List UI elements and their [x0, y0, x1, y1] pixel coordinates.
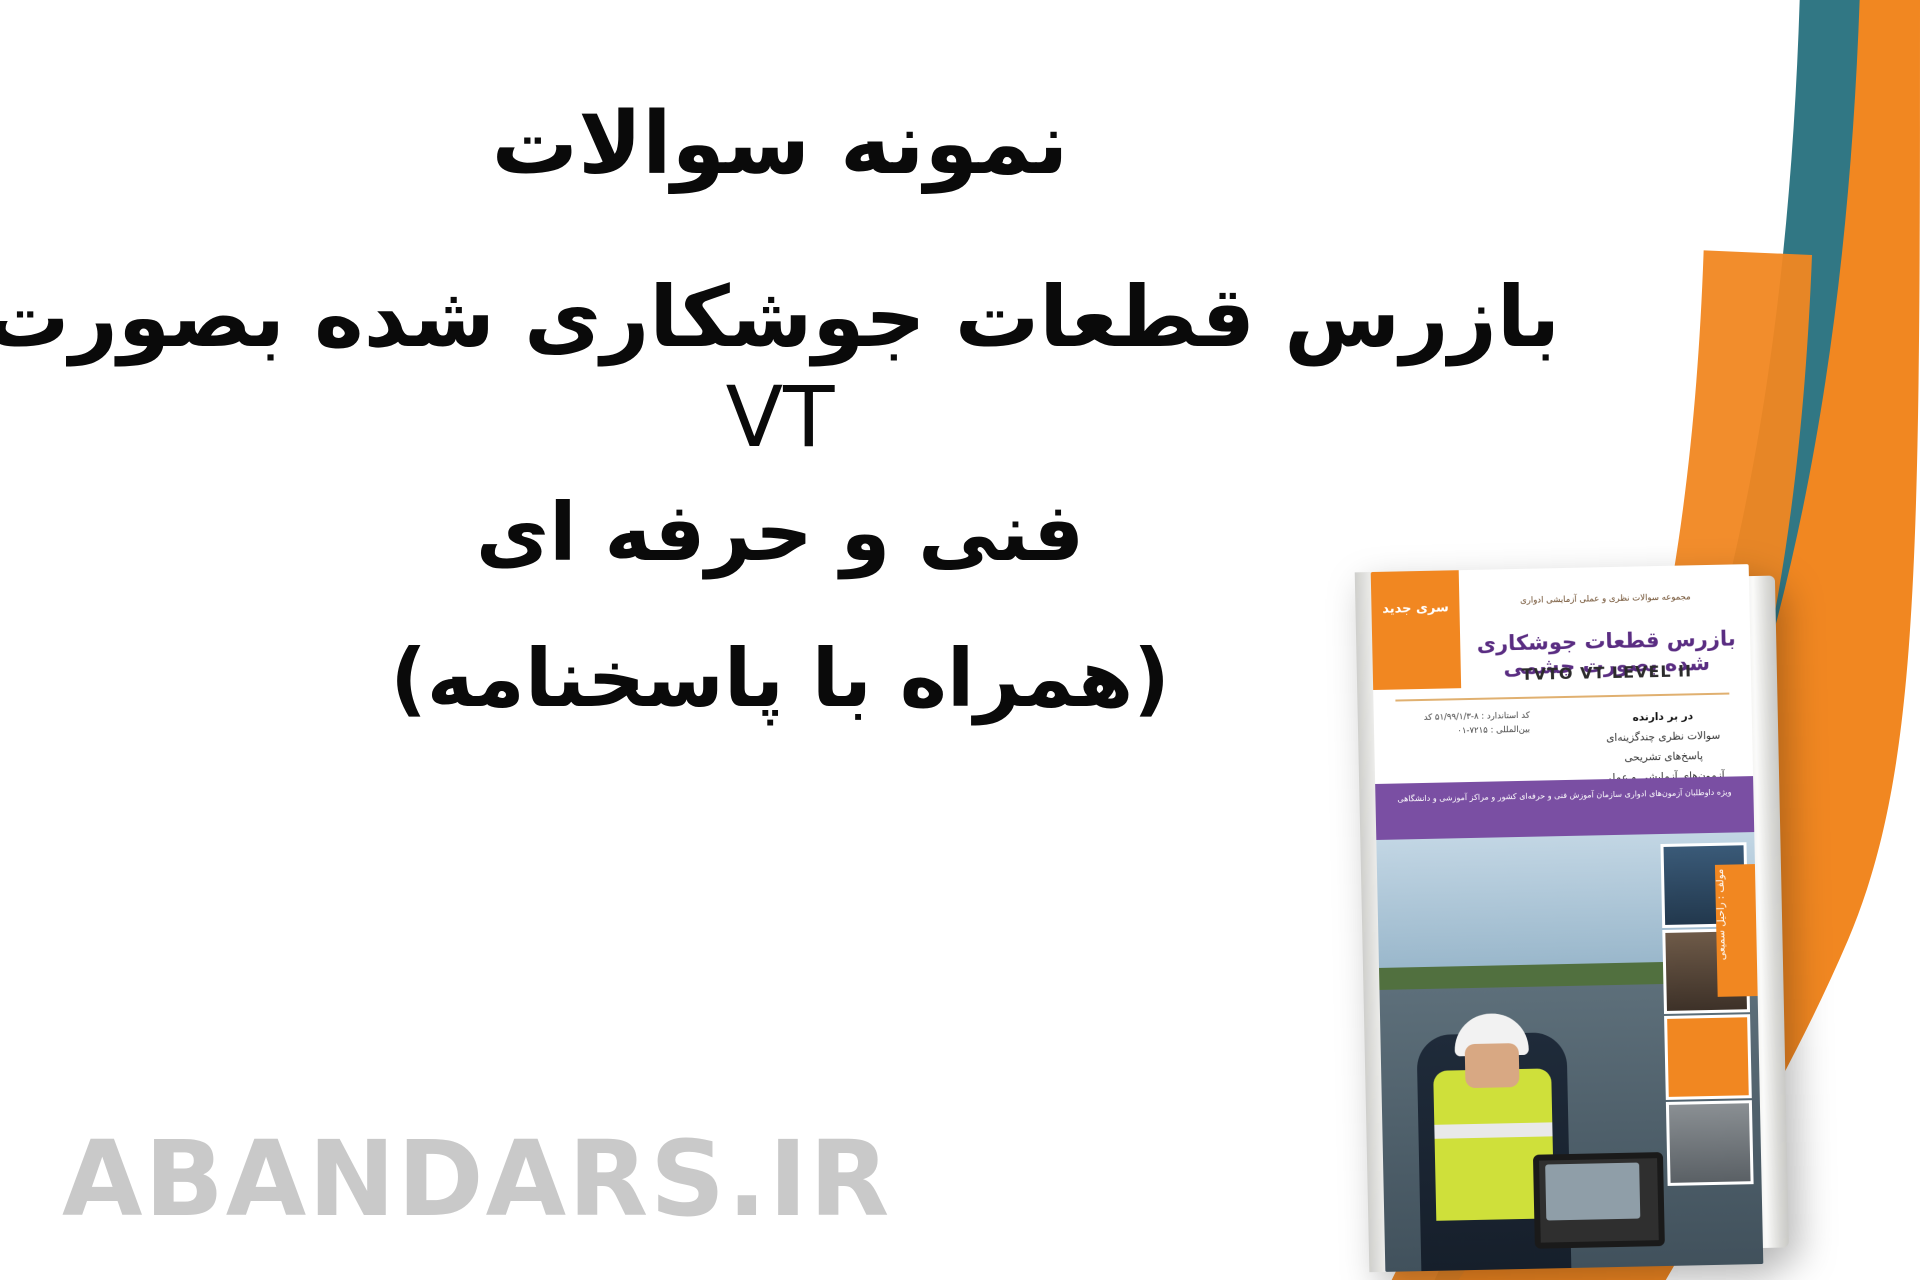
- book-cover-photo: [1376, 832, 1763, 1272]
- headline-line-1: نمونه سوالات: [0, 96, 1560, 192]
- book-cover: سری جدید مجموعه سوالات نظری و عملی آزمای…: [1371, 564, 1764, 1272]
- book-badge-band: [1371, 570, 1461, 690]
- headline-line-2: بازرس قطعات جوشکاری شده بصورت چشمی: [0, 270, 1560, 364]
- photo-vest-stripe: [1434, 1122, 1552, 1138]
- book-standard-codes: کد استاندارد : ۸-۵۱/۹۹/۱/۳ کد بین‌المللی…: [1392, 709, 1531, 741]
- book-cover-divider: [1395, 693, 1729, 702]
- book-author-tab: مولف : راحیل سمیعی: [1715, 864, 1758, 997]
- photo-thumbnail: [1664, 1014, 1752, 1100]
- headline-line-4: فنی و حرفه ای: [0, 488, 1560, 578]
- book-purple-band: ویژه داوطلبان آزمون‌های ادواری سازمان آم…: [1375, 776, 1754, 840]
- photo-inspector-face: [1465, 1043, 1520, 1088]
- photo-thumbnail: [1666, 1100, 1754, 1186]
- book-new-badge: سری جدید: [1379, 600, 1451, 617]
- photo-device-screen: [1545, 1163, 1640, 1221]
- slide-canvas: نمونه سوالات بازرس قطعات جوشکاری شده بصو…: [0, 0, 1920, 1280]
- headline-line-5: (همراه با پاسخنامه): [0, 634, 1560, 724]
- book-contents-item: سوالات نظری چندگزینه‌ای: [1588, 726, 1738, 749]
- book-author-label: مولف : راحیل سمیعی: [1715, 869, 1727, 909]
- book-mockup: سری جدید مجموعه سوالات نظری و عملی آزمای…: [1371, 564, 1764, 1272]
- site-watermark: ABANDARS.IR: [62, 1118, 891, 1240]
- headline-block: نمونه سوالات بازرس قطعات جوشکاری شده بصو…: [0, 96, 1560, 724]
- book-purple-note: ویژه داوطلبان آزمون‌های ادواری سازمان آم…: [1375, 776, 1753, 807]
- book-header-note: مجموعه سوالات نظری و عملی آزمایشی ادواری: [1471, 590, 1739, 608]
- headline-line-3-vt: VT: [0, 370, 1560, 464]
